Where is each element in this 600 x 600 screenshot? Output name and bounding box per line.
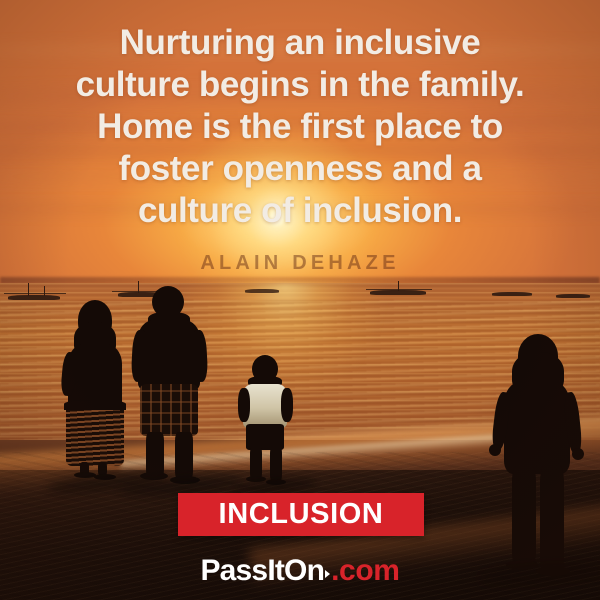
passiton-logo[interactable]: PassItOn .com xyxy=(0,556,600,586)
quote-poster: Nurturing an inclusive culture begins in… xyxy=(0,0,600,600)
value-banner-label: INCLUSION xyxy=(219,500,384,529)
play-triangle-icon xyxy=(325,570,330,578)
quote-line: Home is the first place to xyxy=(0,106,600,148)
quote-line: culture begins in the family. xyxy=(0,64,600,106)
logo-tld-text: .com xyxy=(331,556,399,586)
quote-text: Nurturing an inclusive culture begins in… xyxy=(0,22,600,232)
quote-line: foster openness and a xyxy=(0,148,600,190)
quote-line: Nurturing an inclusive xyxy=(0,22,600,64)
quote-author: ALAIN DEHAZE xyxy=(0,252,600,275)
quote-line: culture of inclusion. xyxy=(0,190,600,232)
logo-brand-text: PassItOn xyxy=(200,556,324,586)
value-banner[interactable]: INCLUSION xyxy=(178,493,424,536)
